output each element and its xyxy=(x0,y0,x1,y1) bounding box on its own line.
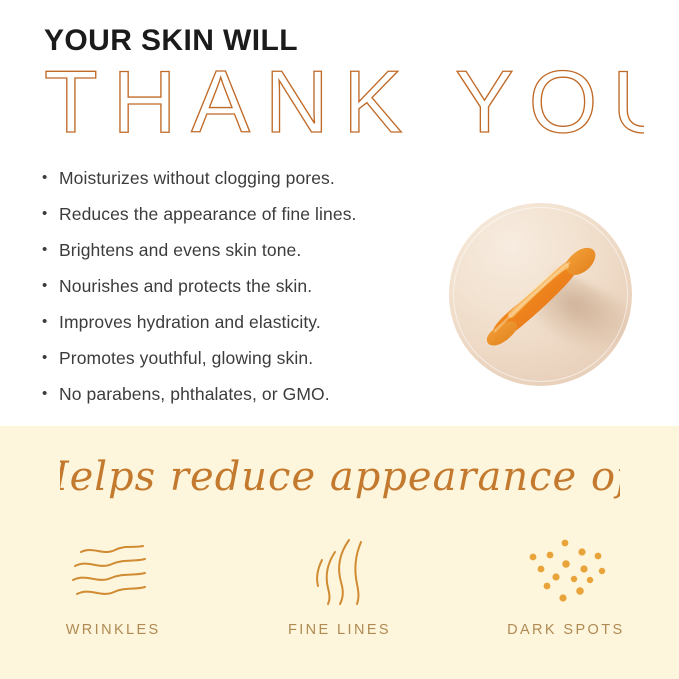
list-item-label: Nourishes and protects the skin. xyxy=(59,268,312,304)
page-title-line1: YOUR SKIN WILL xyxy=(44,26,298,56)
concern-dark-spots: DARK SPOTS xyxy=(453,534,679,638)
product-photo xyxy=(449,203,632,386)
concern-label: FINE LINES xyxy=(288,622,391,638)
list-item-label: Improves hydration and elasticity. xyxy=(59,304,321,340)
concern-label: WRINKLES xyxy=(66,622,161,638)
concerns-section: Helps reduce appearance of: WRINK xyxy=(0,426,679,679)
script-heading: Helps reduce appearance of: xyxy=(0,446,679,508)
list-item: • Nourishes and protects the skin. xyxy=(42,268,442,304)
list-item: • No parabens, phthalates, or GMO. xyxy=(42,376,442,412)
script-heading-text: Helps reduce appearance of: xyxy=(60,454,620,500)
wavy-horizontal-lines-icon xyxy=(58,534,168,612)
list-item-label: Brightens and evens skin tone. xyxy=(59,232,301,268)
bullet-icon: • xyxy=(42,160,59,196)
list-item: • Moisturizes without clogging pores. xyxy=(42,160,442,196)
list-item: • Reduces the appearance of fine lines. xyxy=(42,196,442,232)
concern-label: DARK SPOTS xyxy=(507,622,624,638)
vertical-curved-lines-icon xyxy=(284,534,394,612)
concern-wrinkles: WRINKLES xyxy=(0,534,226,638)
list-item-label: No parabens, phthalates, or GMO. xyxy=(59,376,330,412)
list-item: • Improves hydration and elasticity. xyxy=(42,304,442,340)
benefits-section: YOUR SKIN WILL THANK YOU • Moisturizes w… xyxy=(0,0,679,426)
page-title-line2: THANK YOU xyxy=(44,58,644,144)
list-item-label: Moisturizes without clogging pores. xyxy=(59,160,335,196)
photo-inner-rim xyxy=(453,207,628,382)
page-title-line2-text: THANK YOU xyxy=(44,58,644,144)
list-item: • Brightens and evens skin tone. xyxy=(42,232,442,268)
bullet-icon: • xyxy=(42,340,59,376)
bullet-icon: • xyxy=(42,196,59,232)
list-item: • Promotes youthful, glowing skin. xyxy=(42,340,442,376)
list-item-label: Promotes youthful, glowing skin. xyxy=(59,340,313,376)
bullet-icon: • xyxy=(42,268,59,304)
scattered-dots-icon xyxy=(511,534,621,612)
concern-fine-lines: FINE LINES xyxy=(226,534,452,638)
bullet-icon: • xyxy=(42,232,59,268)
concerns-row: WRINKLES FINE LINES xyxy=(0,534,679,638)
advertisement-page: YOUR SKIN WILL THANK YOU • Moisturizes w… xyxy=(0,0,679,679)
bullet-icon: • xyxy=(42,376,59,412)
bullet-icon: • xyxy=(42,304,59,340)
list-item-label: Reduces the appearance of fine lines. xyxy=(59,196,357,232)
benefits-list: • Moisturizes without clogging pores. • … xyxy=(42,160,442,412)
